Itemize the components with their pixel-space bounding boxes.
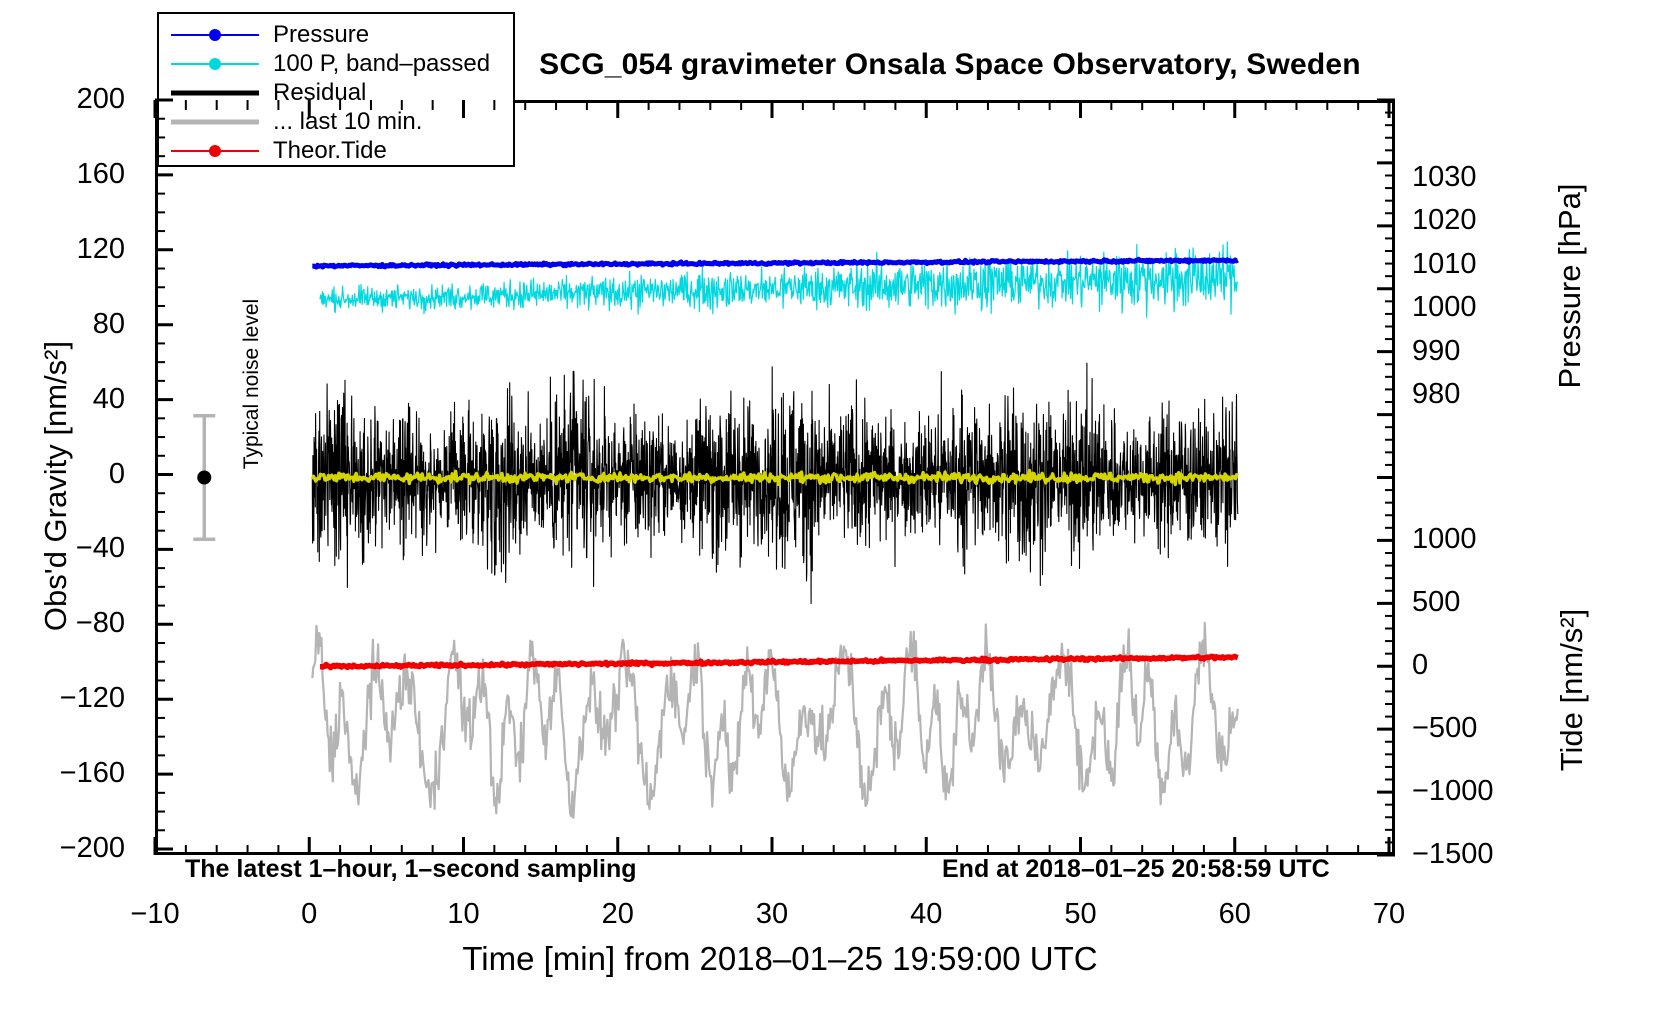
y-tick-label-pressure: 1000 (1412, 291, 1522, 324)
y-tick-label-pressure: 1020 (1412, 204, 1522, 237)
legend-item[interactable]: Theor.Tide (159, 136, 513, 165)
legend-item[interactable]: 100 P, band–passed (159, 49, 513, 78)
y-tick-label-pressure: 1010 (1412, 248, 1522, 281)
x-tick-label: 40 (866, 898, 986, 931)
sampling-note: The latest 1–hour, 1–second sampling (185, 855, 637, 884)
gravimeter-plot: SCG_054 gravimeter Onsala Space Observat… (0, 0, 1660, 1020)
x-tick-label: 60 (1175, 898, 1295, 931)
legend-label: Residual (273, 79, 366, 107)
x-tick-label: 0 (249, 898, 369, 931)
legend-swatch-icon (171, 112, 259, 132)
x-tick-label: 30 (712, 898, 832, 931)
noise-marker-label: Typical noise level (240, 279, 264, 489)
legend-swatch-icon (171, 83, 259, 103)
y-tick-label-pressure: 1030 (1412, 161, 1522, 194)
page-title: SCG_054 gravimeter Onsala Space Observat… (520, 48, 1380, 82)
y-tick-label-tide: 0 (1412, 649, 1522, 682)
end-time-note: End at 2018–01–25 20:58:59 UTC (942, 855, 1330, 884)
series-pressure (312, 259, 1238, 267)
noise-marker-dot (197, 471, 211, 485)
x-tick-label: 70 (1329, 898, 1449, 931)
x-axis-label: Time [min] from 2018–01–25 19:59:00 UTC (160, 940, 1400, 978)
y-tick-label-left: −40 (20, 532, 125, 565)
y-tick-label-tide: −500 (1412, 712, 1522, 745)
y-tick-label-tide: 500 (1412, 586, 1522, 619)
y-tick-label-left: 40 (20, 383, 125, 416)
y-tick-label-tide: 1000 (1412, 523, 1522, 556)
y-tick-label-left: −120 (20, 682, 125, 715)
legend-label: Pressure (273, 21, 369, 49)
y-axis-label-pressure: Pressure [hPa] (1552, 56, 1588, 516)
y-tick-label-left: −160 (20, 757, 125, 790)
legend-label: Theor.Tide (273, 137, 387, 165)
y-tick-label-pressure: 990 (1412, 335, 1522, 368)
x-tick-label: 20 (558, 898, 678, 931)
legend-item[interactable]: Residual (159, 78, 513, 107)
plot-canvas (158, 103, 1392, 852)
plot-area (155, 100, 1395, 855)
y-tick-label-left: −200 (20, 832, 125, 865)
y-tick-label-left: 0 (20, 458, 125, 491)
y-tick-label-left: 80 (20, 308, 125, 341)
y-tick-label-tide: −1000 (1412, 775, 1522, 808)
legend-item[interactable]: ... last 10 min. (159, 107, 513, 136)
y-axis-label-tide: Tide [nm/s²] (1554, 490, 1590, 890)
legend-swatch-icon (171, 25, 259, 45)
legend-label: ... last 10 min. (273, 108, 422, 136)
y-tick-label-tide: −1500 (1412, 838, 1522, 871)
y-tick-label-left: −80 (20, 607, 125, 640)
legend: Pressure100 P, band–passedResidual... la… (157, 12, 515, 167)
series-band-passed (320, 242, 1238, 317)
x-tick-label: 10 (404, 898, 524, 931)
legend-swatch-icon (171, 54, 259, 74)
x-tick-label: 50 (1021, 898, 1141, 931)
y-tick-label-left: 120 (20, 233, 125, 266)
legend-item[interactable]: Pressure (159, 20, 513, 49)
legend-swatch-icon (171, 141, 259, 161)
y-tick-label-pressure: 980 (1412, 378, 1522, 411)
y-tick-label-left: 160 (20, 158, 125, 191)
series-last-10-min (312, 623, 1238, 818)
legend-label: 100 P, band–passed (273, 50, 490, 78)
y-tick-label-left: 200 (20, 83, 125, 116)
x-tick-label: −10 (95, 898, 215, 931)
